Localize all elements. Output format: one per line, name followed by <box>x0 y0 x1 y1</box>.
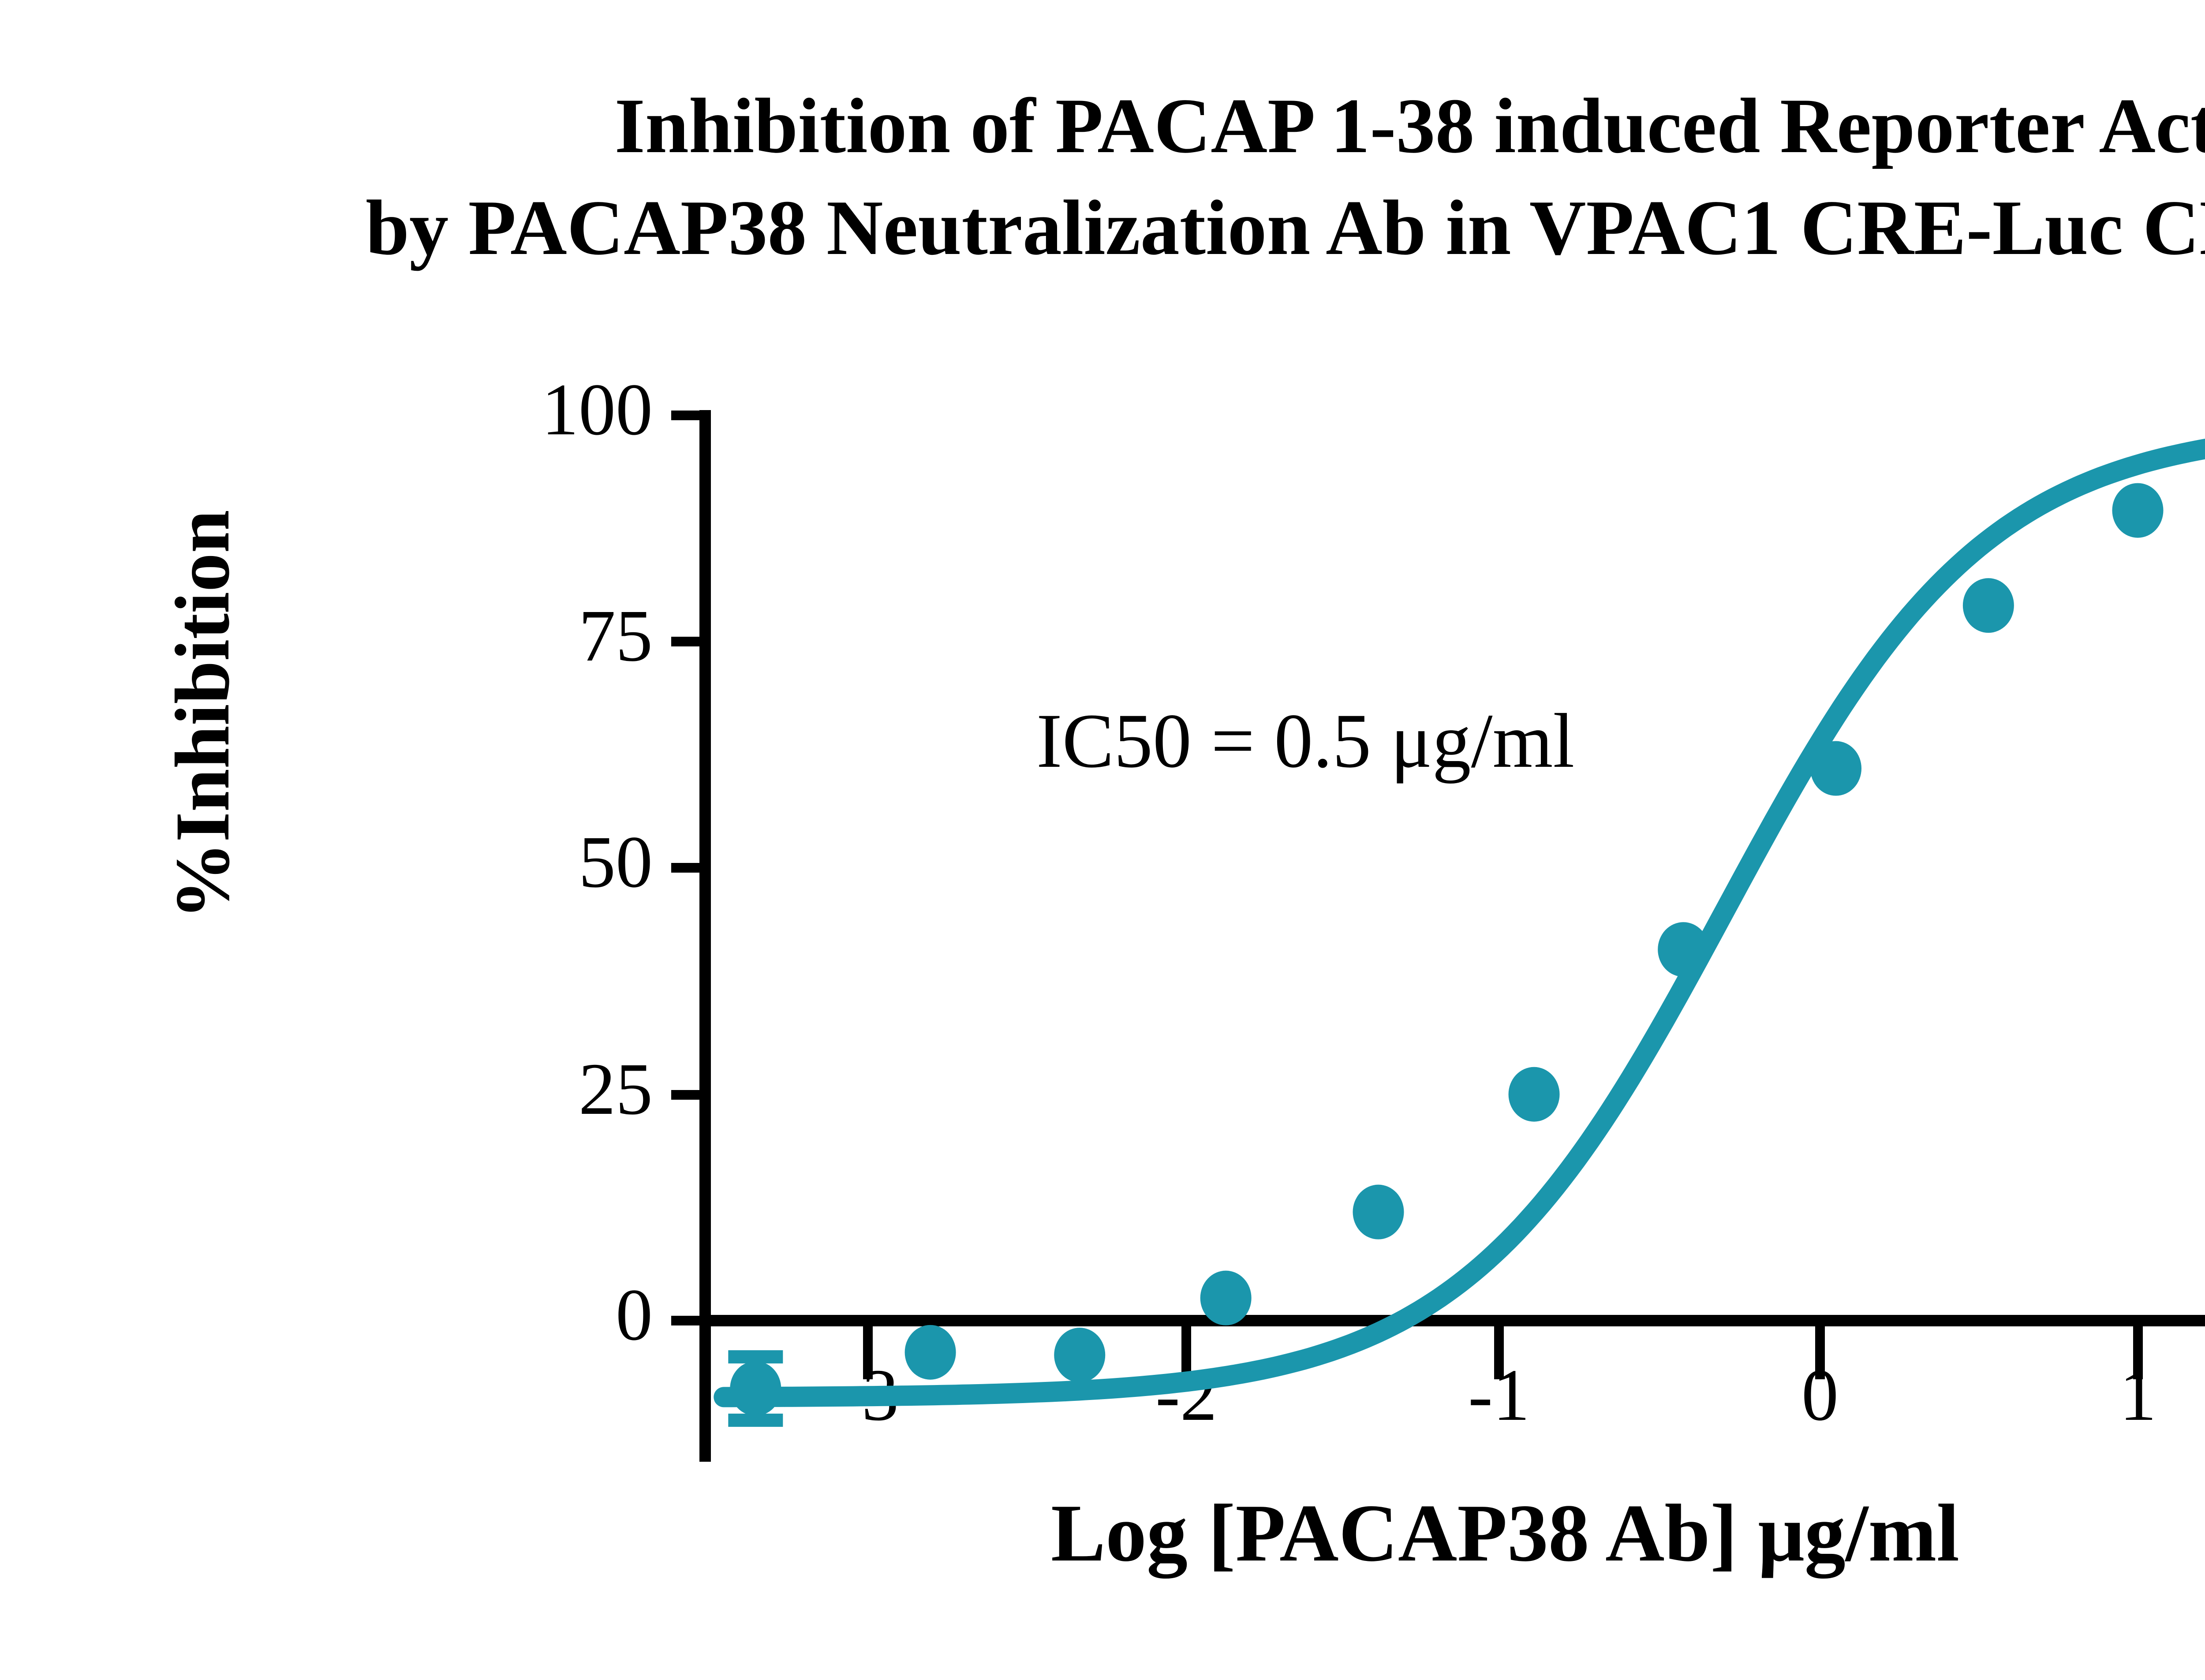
y-axis-title: %Inhibition <box>158 406 247 1023</box>
data-point <box>1658 922 1709 977</box>
x-tick-label-neg1: -1 <box>1411 1358 1587 1432</box>
y-tick-75 <box>671 637 699 646</box>
y-tick-0 <box>671 1316 699 1325</box>
title-line-2: by PACAP38 Neutralization Ab in VPAC1 CR… <box>0 177 2205 279</box>
data-point <box>1054 1328 1105 1382</box>
ic50-annotation: IC50 = 0.5 μg/ml <box>1036 697 1574 786</box>
x-tick-label-1: 1 <box>2050 1358 2205 1432</box>
y-tick-label-50: 50 <box>467 825 653 899</box>
page-title: Inhibition of PACAP 1-38 induced Reporte… <box>0 75 2205 279</box>
data-point <box>1810 741 1861 796</box>
x-tick-label-neg2: -2 <box>1098 1358 1274 1432</box>
y-tick-50 <box>671 863 699 873</box>
x-tick-label-neg3: -3 <box>780 1358 956 1432</box>
error-bar-group <box>728 1357 783 1420</box>
y-axis-spine <box>699 410 711 1462</box>
y-tick-label-0: 0 <box>467 1278 653 1352</box>
data-point <box>730 1361 781 1416</box>
data-point <box>1509 1067 1560 1122</box>
data-point <box>1353 1185 1404 1239</box>
data-point <box>1963 578 2014 633</box>
x-axis-title: Log [PACAP38 Ab] μg/ml <box>709 1486 2205 1580</box>
title-line-1: Inhibition of PACAP 1-38 induced Reporte… <box>0 75 2205 177</box>
chart-figure: Inhibition of PACAP 1-38 induced Reporte… <box>0 0 2205 1680</box>
x-axis-spine <box>699 1315 2205 1326</box>
y-tick-25 <box>671 1090 699 1100</box>
y-tick-100 <box>671 411 699 420</box>
data-point <box>2112 483 2164 538</box>
y-tick-label-75: 75 <box>467 599 653 673</box>
data-point-group <box>730 433 2205 1416</box>
y-tick-label-100: 100 <box>467 373 653 447</box>
y-tick-label-25: 25 <box>467 1052 653 1126</box>
fit-curve-group <box>724 432 2205 1397</box>
x-tick-label-0: 0 <box>1732 1358 1908 1432</box>
fit-curve-path <box>724 432 2205 1397</box>
